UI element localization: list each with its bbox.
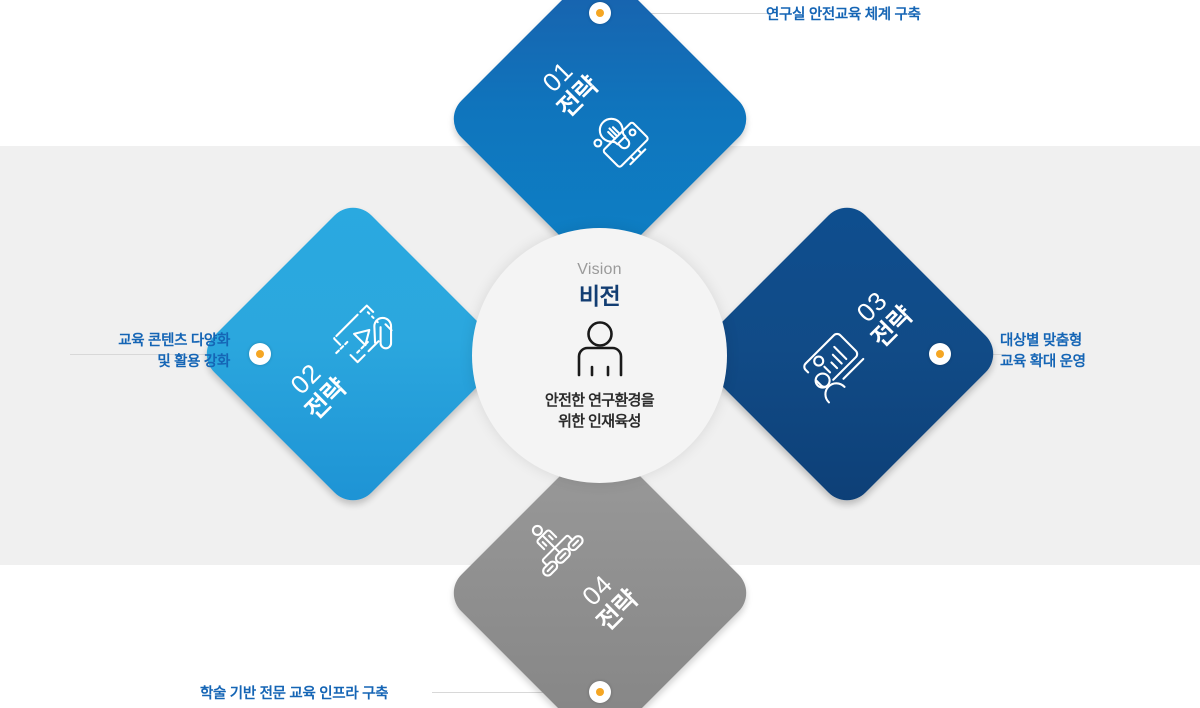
vision-ko-label: 비전 bbox=[579, 285, 620, 308]
vision-description-line2: 위한 인재육성 bbox=[545, 412, 654, 433]
strategy-diamond-01[interactable]: 01 전략 bbox=[489, 8, 711, 230]
caption-strategy-02-line1: 교육 콘텐츠 다양화 bbox=[60, 331, 230, 352]
strategy-diamond-02[interactable]: 02 전략 bbox=[242, 243, 464, 465]
caption-strategy-03-line2: 교육 확대 운영 bbox=[1000, 352, 1170, 373]
connector-dot-right[interactable] bbox=[929, 343, 951, 365]
vision-circle: Vision 비전 안전한 연구환경을 위한 인재육성 bbox=[472, 228, 727, 483]
strategy-diamond-04[interactable]: 04 전략 bbox=[489, 482, 711, 704]
caption-strategy-03: 대상별 맞춤형 교육 확대 운영 bbox=[1000, 331, 1170, 372]
vision-en-label: Vision bbox=[577, 262, 622, 278]
connector-dot-top[interactable] bbox=[589, 2, 611, 24]
person-icon bbox=[573, 320, 627, 383]
connector-dot-left[interactable] bbox=[249, 343, 271, 365]
diagram-canvas: 01 전략 02 전략 bbox=[0, 0, 1200, 708]
diamond-shape-03 bbox=[690, 197, 1004, 511]
caption-strategy-03-line1: 대상별 맞춤형 bbox=[1000, 331, 1170, 352]
caption-strategy-02: 교육 콘텐츠 다양화 및 활용 강화 bbox=[60, 331, 230, 372]
caption-strategy-04: 학술 기반 전문 교육 인프라 구축 bbox=[200, 684, 388, 705]
connector-dot-bottom[interactable] bbox=[589, 681, 611, 703]
diamond-shape-02 bbox=[196, 197, 510, 511]
strategy-diamond-03[interactable]: 03 전략 bbox=[736, 243, 958, 465]
caption-strategy-01: 연구실 안전교육 체계 구축 bbox=[766, 5, 921, 26]
vision-description-line1: 안전한 연구환경을 bbox=[545, 391, 654, 412]
vision-description: 안전한 연구환경을 위한 인재육성 bbox=[545, 391, 654, 432]
caption-strategy-02-line2: 및 활용 강화 bbox=[60, 352, 230, 373]
